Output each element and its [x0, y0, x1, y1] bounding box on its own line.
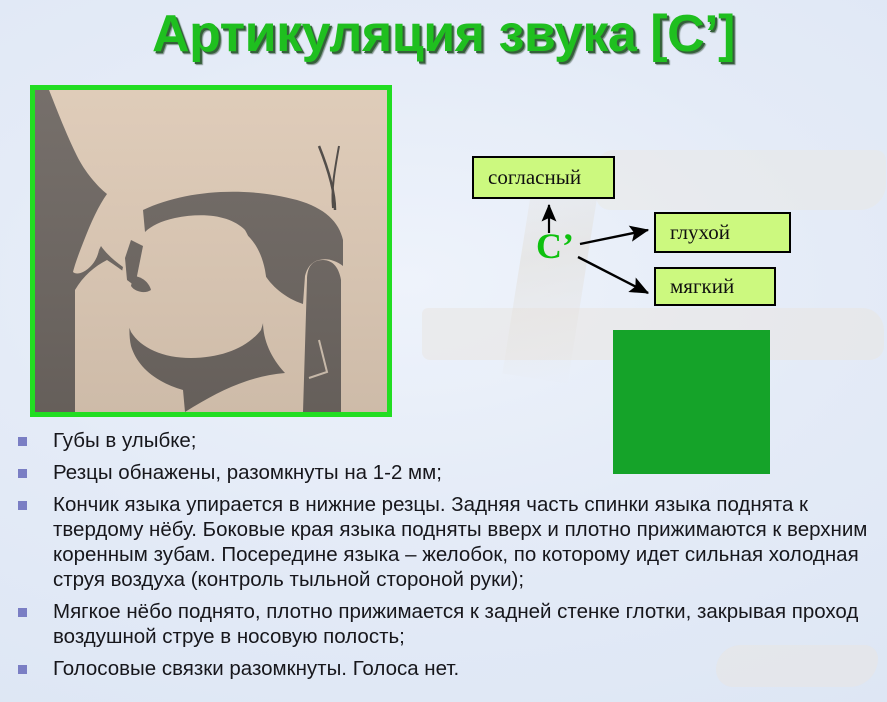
list-item: Голосовые связки разомкнуты. Голоса нет.: [18, 656, 878, 681]
concept-box-soglasny: согласный: [472, 156, 615, 199]
page-title: Артикуляция звука [С’]: [0, 4, 887, 64]
square-bullet-icon: [18, 665, 27, 674]
arrow-to-gluhoy: [580, 230, 648, 244]
concept-box-gluhoy: глухой: [654, 212, 791, 253]
list-item-label: Голосовые связки разомкнуты. Голоса нет.: [53, 656, 878, 681]
square-bullet-icon: [18, 437, 27, 446]
list-item-label: Губы в улыбке;: [53, 428, 878, 453]
square-bullet-icon: [18, 608, 27, 617]
list-item: Мягкое нёбо поднято, плотно прижимается …: [18, 599, 878, 649]
list-item: Кончик языка упирается в нижние резцы. З…: [18, 492, 878, 592]
square-bullet-icon: [18, 469, 27, 478]
square-bullet-icon: [18, 501, 27, 510]
list-item-label: Мягкое нёбо поднято, плотно прижимается …: [53, 599, 878, 649]
list-item-label: Кончик языка упирается в нижние резцы. З…: [53, 492, 878, 592]
sound-symbol-label: С’: [536, 228, 574, 264]
concept-box-myagkiy: мягкий: [654, 267, 776, 306]
list-item: Губы в улыбке;: [18, 428, 878, 453]
arrow-to-myagkiy: [578, 257, 648, 293]
articulation-profile-image: [30, 85, 392, 417]
sagittal-profile-illustration: [35, 90, 387, 412]
list-item-label: Резцы обнажены, разомкнуты на 1-2 мм;: [53, 460, 878, 485]
slide-canvas: Артикуляция звука [С’]: [0, 0, 887, 702]
background-watermark-band-upper: [596, 150, 886, 210]
list-item: Резцы обнажены, разомкнуты на 1-2 мм;: [18, 460, 878, 485]
articulation-bullet-list: Губы в улыбке; Резцы обнажены, разомкнут…: [18, 428, 878, 688]
